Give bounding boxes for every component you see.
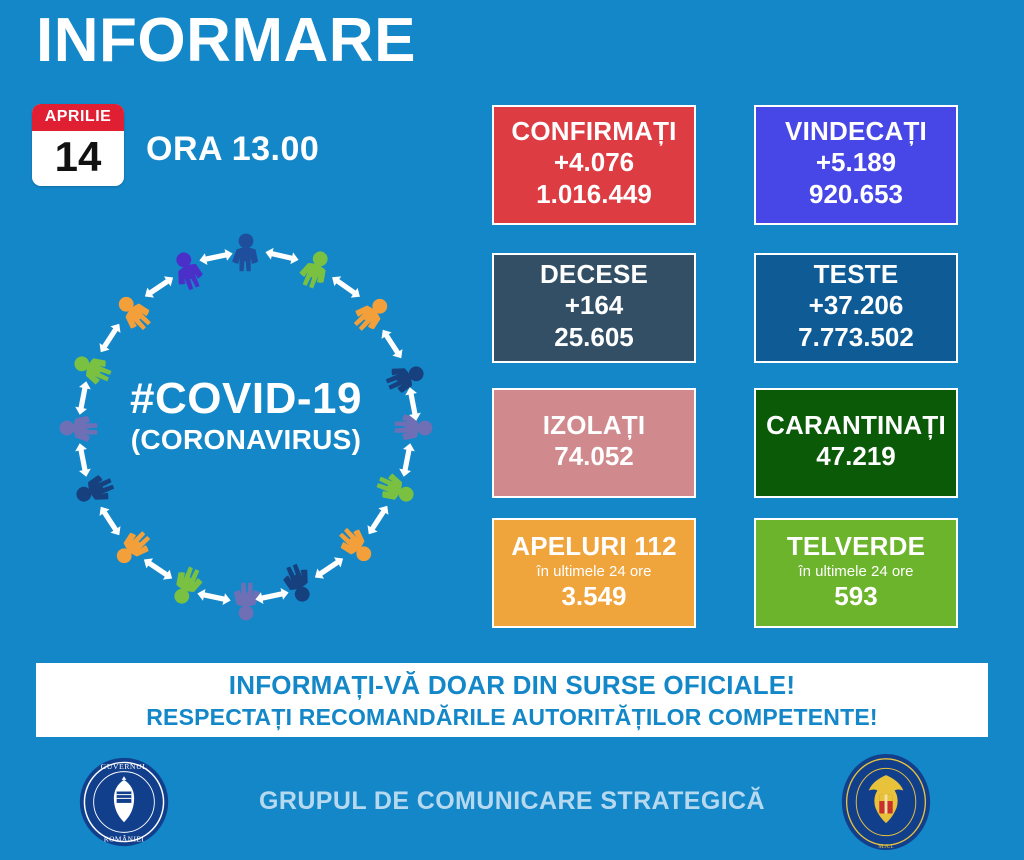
stat-total: 593 [760,581,952,613]
stat-label: CONFIRMAȚI [498,117,690,147]
svg-text:M.A.I.: M.A.I. [878,844,894,850]
stat-total: 47.219 [760,441,952,473]
stat-label: TESTE [760,260,952,290]
stat-label: IZOLAȚI [498,411,690,441]
stat-sublabel: în ultimele 24 ore [760,563,952,581]
stat-row-2: DECESE +164 25.605 TESTE +37.206 7.773.5… [492,253,958,363]
stat-delta: +37.206 [760,290,952,322]
dsu-mai-logo-svg: M.A.I. [838,752,934,852]
people-circle-distancing-icon: #COVID-19 (CORONAVIRUS) [36,228,456,628]
stat-delta: +5.189 [760,147,952,179]
stat-delta: +164 [498,290,690,322]
stat-card-teste: TESTE +37.206 7.773.502 [754,253,958,363]
stat-card-confirmati: CONFIRMAȚI +4.076 1.016.449 [492,105,696,225]
official-sources-notice: INFORMAȚI-VĂ DOAR DIN SURSE OFICIALE! RE… [36,663,988,737]
page-title: INFORMARE [36,8,416,73]
stat-total: 920.653 [760,179,952,211]
svg-text:GUVERNUL: GUVERNUL [101,762,148,771]
stat-label: APELURI 112 [498,532,690,562]
circle-people-svg [36,228,456,628]
statistics-grid: CONFIRMAȚI +4.076 1.016.449 VINDECAȚI +5… [492,105,958,628]
stat-sublabel: în ultimele 24 ore [498,563,690,581]
stat-label: VINDECAȚI [760,117,952,147]
stat-card-vindecati: VINDECAȚI +5.189 920.653 [754,105,958,225]
stat-total: 7.773.502 [760,322,952,354]
stat-card-telverde: TELVERDE în ultimele 24 ore 593 [754,518,958,628]
stat-card-izolati: IZOLAȚI 74.052 [492,388,696,498]
stat-card-decese: DECESE +164 25.605 [492,253,696,363]
stat-row-3: IZOLAȚI 74.052 CARANTINAȚI 47.219 [492,388,958,498]
stat-total: 1.016.449 [498,179,690,211]
stat-card-apeluri-112: APELURI 112 în ultimele 24 ore 3.549 [492,518,696,628]
calendar-month: APRILIE [32,104,124,131]
stat-label: CARANTINAȚI [760,411,952,441]
svg-text:ROMÂNIEI: ROMÂNIEI [104,834,145,844]
notice-line-2: RESPECTAȚI RECOMANDĂRILE AUTORITĂȚILOR C… [146,704,878,731]
dsu-mai-logo: M.A.I. [838,752,934,852]
report-hour: ORA 13.00 [146,130,319,169]
stat-label: TELVERDE [760,532,952,562]
stat-label: DECESE [498,260,690,290]
stat-delta: +4.076 [498,147,690,179]
stat-row-1: CONFIRMAȚI +4.076 1.016.449 VINDECAȚI +5… [492,105,958,225]
stat-total: 3.549 [498,581,690,613]
calendar-icon: APRILIE 14 [32,104,124,186]
calendar-day: 14 [32,131,124,186]
infographic-page: INFORMARE APRILIE 14 ORA 13.00 [0,0,1024,860]
stat-row-4: APELURI 112 în ultimele 24 ore 3.549 TEL… [492,518,958,628]
stat-total: 74.052 [498,441,690,473]
stat-total: 25.605 [498,322,690,354]
notice-line-1: INFORMAȚI-VĂ DOAR DIN SURSE OFICIALE! [229,670,795,701]
stat-card-carantinati: CARANTINAȚI 47.219 [754,388,958,498]
